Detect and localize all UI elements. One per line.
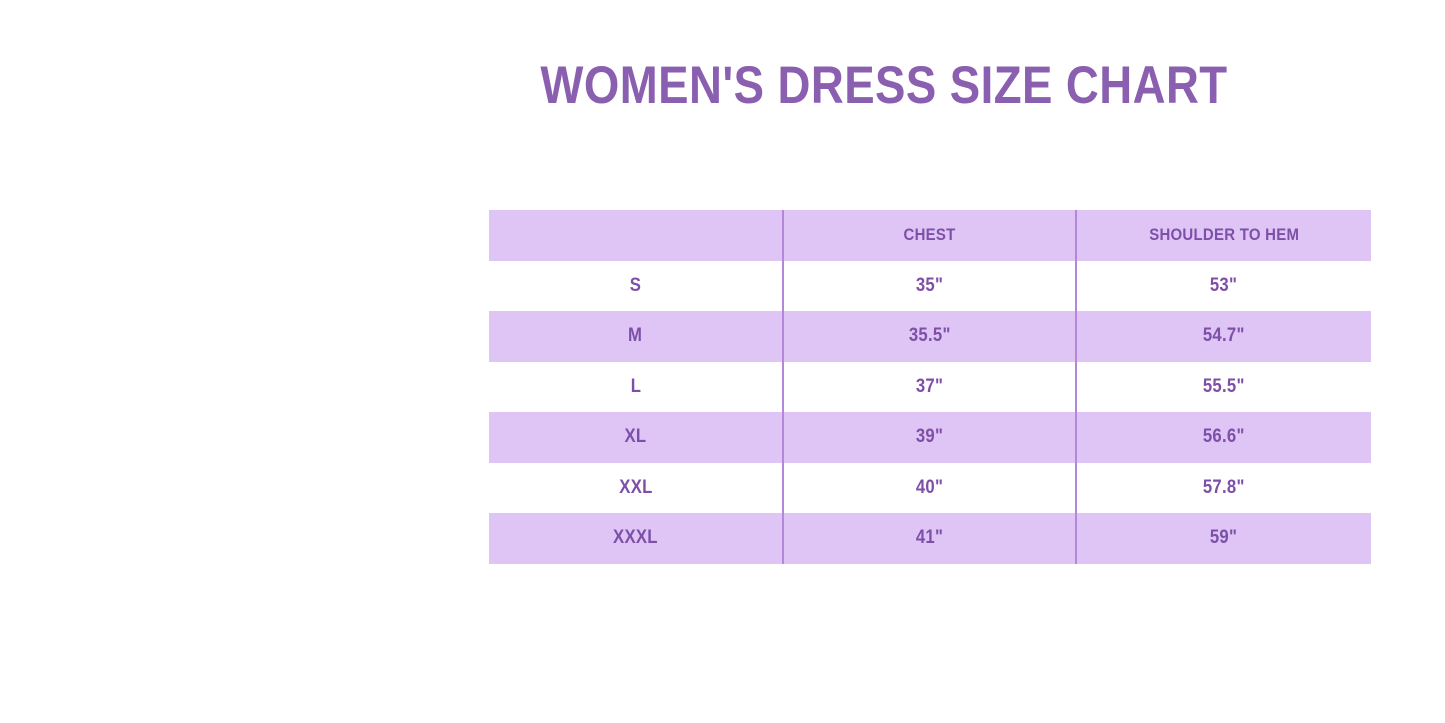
cell-chest: 39" [783, 412, 1076, 463]
shoulder-to-hem-value: 53" [1210, 275, 1237, 297]
cell-shoulder-to-hem: 57.8" [1076, 463, 1371, 514]
shoulder-to-hem-value: 59" [1210, 527, 1237, 549]
column-header-shoulder-to-hem: SHOULDER TO HEM [1076, 210, 1371, 261]
shoulder-to-hem-value: 57.8" [1203, 477, 1245, 499]
column-header-size [489, 210, 783, 261]
table-row: XL 39" 56.6" [489, 412, 1371, 463]
chest-value: 41" [916, 527, 943, 549]
size-value: M [628, 325, 642, 347]
size-value: XXXL [613, 527, 658, 549]
cell-shoulder-to-hem: 59" [1076, 513, 1371, 564]
size-chart-table: CHEST SHOULDER TO HEM S 35" 53" M 35.5" … [489, 210, 1371, 564]
cell-chest: 37" [783, 362, 1076, 413]
shoulder-to-hem-value: 56.6" [1203, 426, 1245, 448]
cell-size: XXL [489, 463, 783, 514]
cell-size: S [489, 261, 783, 312]
chest-value: 35" [916, 275, 943, 297]
table-row: S 35" 53" [489, 261, 1371, 312]
cell-size: L [489, 362, 783, 413]
table-header-row: CHEST SHOULDER TO HEM [489, 210, 1371, 261]
size-chart-page: WOMEN'S DRESS SIZE CHART CHEST SHOULDER … [0, 0, 1445, 723]
table-row: XXXL 41" 59" [489, 513, 1371, 564]
table-row: L 37" 55.5" [489, 362, 1371, 413]
chest-value: 39" [916, 426, 943, 448]
table-row: XXL 40" 57.8" [489, 463, 1371, 514]
chest-value: 37" [916, 376, 943, 398]
cell-shoulder-to-hem: 54.7" [1076, 311, 1371, 362]
column-header-chest-label: CHEST [903, 225, 955, 245]
size-value: XL [625, 426, 647, 448]
cell-chest: 35" [783, 261, 1076, 312]
cell-size: M [489, 311, 783, 362]
cell-chest: 41" [783, 513, 1076, 564]
cell-size: XL [489, 412, 783, 463]
size-value: L [630, 376, 640, 398]
cell-shoulder-to-hem: 56.6" [1076, 412, 1371, 463]
cell-chest: 35.5" [783, 311, 1076, 362]
cell-shoulder-to-hem: 55.5" [1076, 362, 1371, 413]
column-header-shoulder-to-hem-label: SHOULDER TO HEM [1149, 225, 1299, 245]
column-header-chest: CHEST [783, 210, 1076, 261]
chest-value: 40" [916, 477, 943, 499]
size-value: XXL [619, 477, 652, 499]
shoulder-to-hem-value: 54.7" [1203, 325, 1245, 347]
cell-shoulder-to-hem: 53" [1076, 261, 1371, 312]
page-title: WOMEN'S DRESS SIZE CHART [124, 57, 1445, 115]
chest-value: 35.5" [909, 325, 951, 347]
size-value: S [630, 275, 641, 297]
shoulder-to-hem-value: 55.5" [1203, 376, 1245, 398]
cell-size: XXXL [489, 513, 783, 564]
cell-chest: 40" [783, 463, 1076, 514]
table-row: M 35.5" 54.7" [489, 311, 1371, 362]
